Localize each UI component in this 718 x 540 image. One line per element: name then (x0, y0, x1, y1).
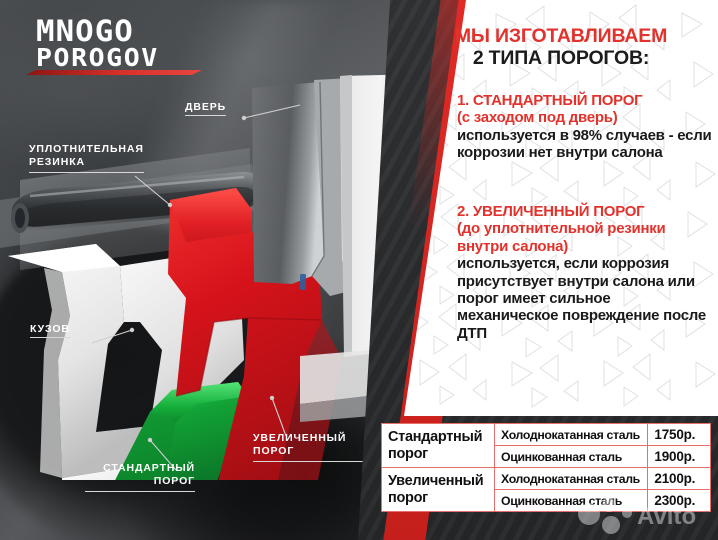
cell-steel-1: Холоднокатанная сталь (495, 424, 648, 446)
label-seal-line1: УПЛОТНИТЕЛЬНАЯ (29, 143, 144, 156)
advert-image: MNOGO POROGOV ДВЕРЬ УПЛОТНИТЕЛЬНАЯ РЕЗИН… (0, 0, 718, 540)
header-line-2: 2 ТИПА ПОРОГОВ: (404, 48, 718, 70)
watermark-text: Avito (637, 503, 696, 530)
label-extended-line2: ПОРОГ (253, 445, 363, 461)
avito-watermark: Avito (575, 492, 717, 538)
table-row: Стандартный порог Холоднокатанная сталь … (382, 424, 711, 446)
label-door: ДВЕРЬ (185, 101, 226, 114)
label-standard-sill: СТАНДАРТНЫЙ ПОРОГ (85, 462, 195, 492)
label-extended-sill: УВЕЛИЧЕННЫЙ ПОРОГ (253, 432, 363, 462)
block2-title: 2. УВЕЛИЧЕННЫЙ ПОРОГ (457, 203, 715, 220)
panel-header: МЫ ИЗГОТАВЛИВАЕМ 2 ТИПА ПОРОГОВ: (404, 26, 718, 70)
brand-logo: MNOGO POROGOV (36, 18, 216, 74)
block2-body: используется, если коррозия присутствует… (457, 255, 715, 342)
label-seal-line2: РЕЗИНКА (29, 156, 144, 172)
label-standard-line2: ПОРОГ (85, 475, 195, 491)
logo-accent-bar (26, 70, 202, 75)
cell-price-1: 1750р. (648, 424, 711, 446)
table-row: Увеличенный порог Холоднокатанная сталь … (382, 468, 711, 490)
label-extended-line1: УВЕЛИЧЕННЫЙ (253, 432, 363, 445)
info-panel-content: МЫ ИЗГОТАВЛИВАЕМ 2 ТИПА ПОРОГОВ: 1. СТАН… (404, 0, 718, 416)
block1-subtitle: (с заходом под дверь) (457, 109, 715, 126)
sill-type-block-2: 2. УВЕЛИЧЕННЫЙ ПОРОГ (до уплотнительной … (457, 203, 715, 342)
label-seal: УПЛОТНИТЕЛЬНАЯ РЕЗИНКА (29, 143, 144, 173)
label-standard-line1: СТАНДАРТНЫЙ (85, 462, 195, 475)
cell-kind-extended: Увеличенный порог (382, 468, 495, 512)
sill-type-block-1: 1. СТАНДАРТНЫЙ ПОРОГ (с заходом под двер… (457, 92, 715, 162)
cell-kind-standard: Стандартный порог (382, 424, 495, 468)
cell-price-2: 1900р. (648, 446, 711, 468)
header-line-1: МЫ ИЗГОТАВЛИВАЕМ (404, 26, 718, 47)
logo-line-2: POROGOV (36, 45, 227, 70)
cell-steel-3: Холоднокатанная сталь (495, 468, 648, 490)
cell-steel-2: Оцинкованная сталь (495, 446, 648, 468)
cell-price-3: 2100р. (648, 468, 711, 490)
label-body: КУЗОВ (30, 323, 70, 336)
block2-subtitle: (до уплотнительной резинки внутри салона… (457, 220, 715, 255)
block1-title: 1. СТАНДАРТНЫЙ ПОРОГ (457, 92, 715, 109)
logo-line-1: MNOGO (36, 18, 227, 46)
block1-body: используется в 98% случаев - если корроз… (457, 127, 715, 162)
